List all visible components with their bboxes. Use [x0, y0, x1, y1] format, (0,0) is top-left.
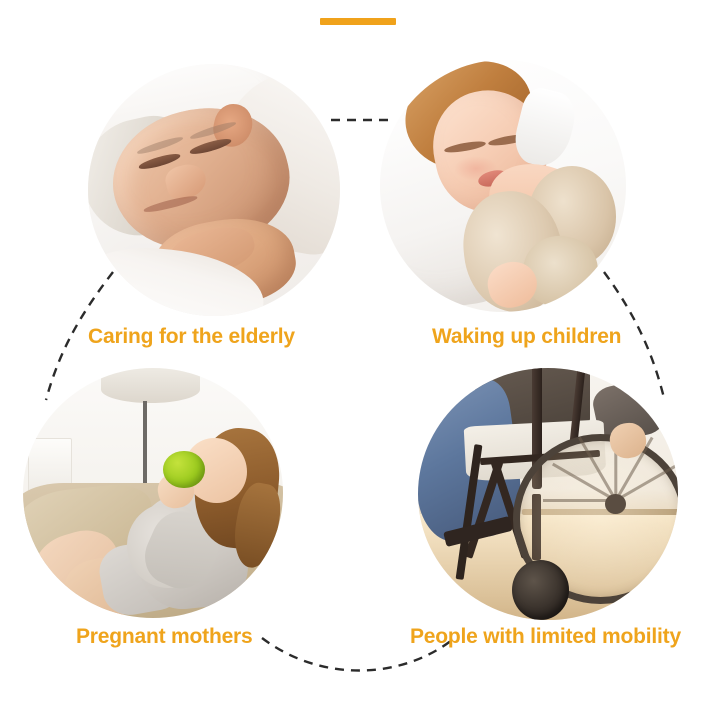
accent-bar: [320, 18, 396, 25]
label-elderly: Caring for the elderly: [88, 325, 295, 349]
label-children: Waking up children: [432, 325, 621, 349]
photo-mobility[interactable]: [418, 368, 678, 620]
label-mobility: People with limited mobility: [410, 625, 681, 649]
photo-elderly[interactable]: [88, 64, 340, 316]
label-pregnant: Pregnant mothers: [76, 625, 253, 649]
photo-children[interactable]: [380, 60, 626, 312]
infographic-canvas: Caring for the elderly Waking up chi: [0, 0, 720, 720]
photo-pregnant[interactable]: [23, 368, 283, 618]
